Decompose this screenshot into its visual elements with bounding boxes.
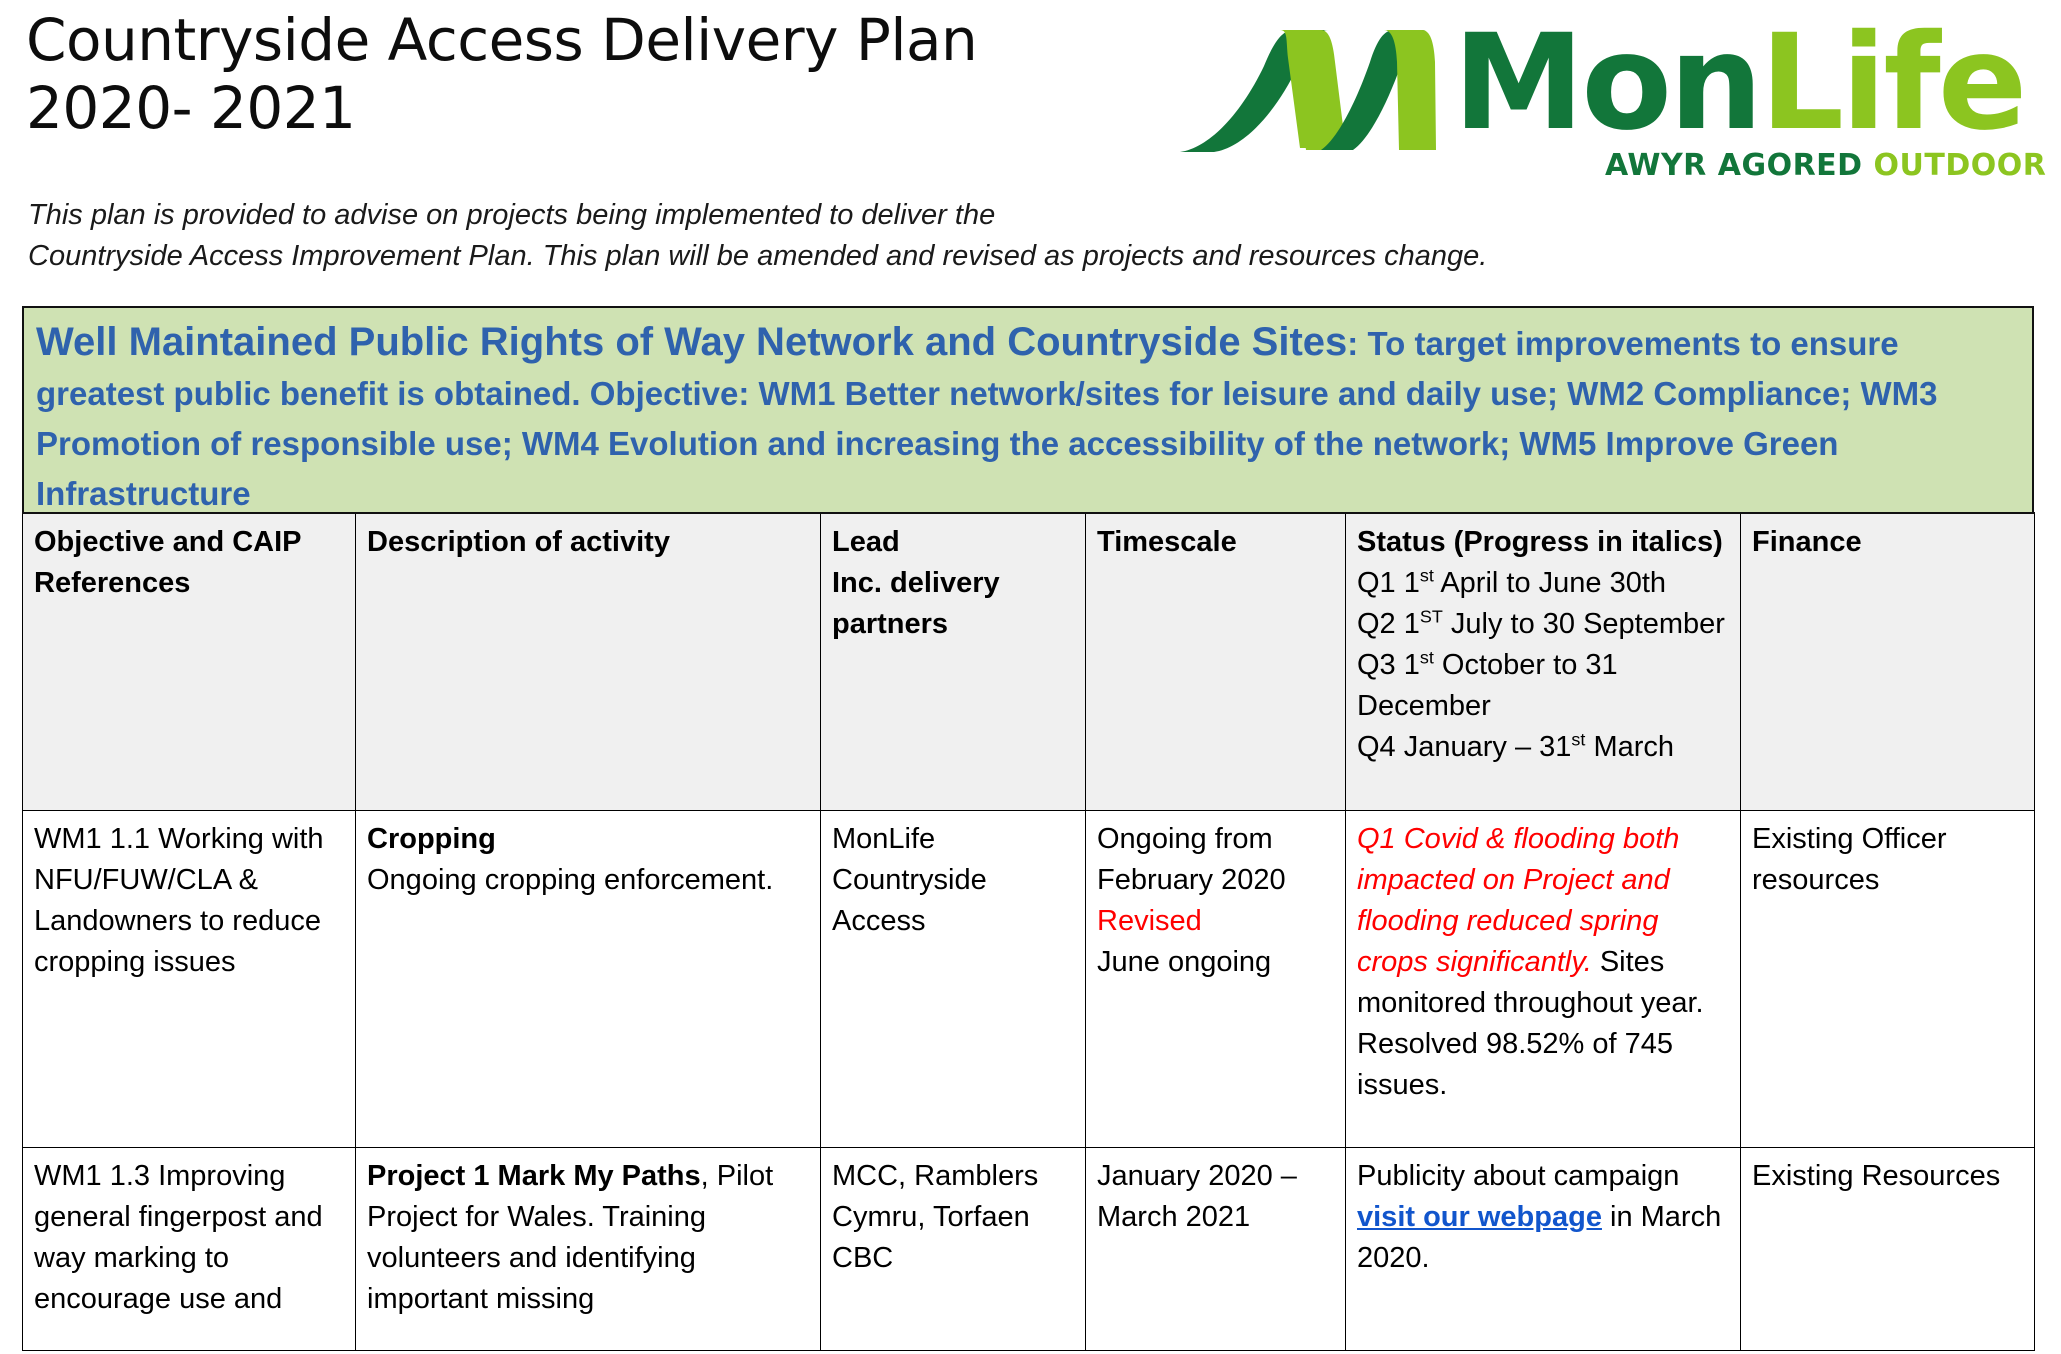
table-header-row: Objective and CAIP References Descriptio…: [23, 513, 2035, 811]
status-q3-prefix: Q3 1: [1357, 649, 1420, 681]
status-prefix-text: Publicity about campaign: [1357, 1160, 1679, 1192]
document-header: Countryside Access Delivery Plan 2020- 2…: [0, 0, 2061, 300]
logo-tagline-english: OUTDOOR: [1874, 148, 2047, 183]
status-quarter-q4: Q4 January – 31st March: [1357, 727, 1730, 768]
column-header-finance-label: Finance: [1752, 522, 2024, 563]
status-q1-ordinal: st: [1420, 565, 1434, 585]
cell-description: Cropping Ongoing cropping enforcement.: [356, 811, 821, 1148]
status-q4-prefix: Q4 January – 31: [1357, 731, 1571, 763]
objective-banner: Well Maintained Public Rights of Way Net…: [22, 306, 2034, 529]
column-header-status-label: Status (Progress in italics): [1357, 522, 1730, 563]
monlife-logo: MonLife AWYR AGORED OUTDOOR: [1153, 8, 2053, 208]
objective-banner-heading: Well Maintained Public Rights of Way Net…: [36, 320, 1347, 364]
column-header-finance: Finance: [1741, 513, 2035, 811]
cell-objective: WM1 1.1 Working with NFU/FUW/CLA & Lando…: [23, 811, 356, 1148]
cell-status: Q1 Covid & flooding both impacted on Pro…: [1346, 811, 1741, 1148]
status-q1-suffix: April to June 30th: [1434, 567, 1666, 599]
page-title-line-2: 2020- 2021: [26, 74, 1206, 142]
status-quarter-q3: Q3 1st October to 31 December: [1357, 645, 1730, 727]
timescale-revised-value: June ongoing: [1097, 946, 1271, 978]
timescale-revised-flag: Revised: [1097, 905, 1202, 937]
subtitle-line-2: Countryside Access Improvement Plan. Thi…: [28, 236, 1788, 277]
delivery-plan-table: Objective and CAIP References Descriptio…: [22, 512, 2035, 1351]
status-q2-prefix: Q2 1: [1357, 608, 1420, 640]
activity-title: Cropping: [367, 823, 496, 855]
column-header-objective-line-2: References: [34, 563, 345, 604]
table-row: WM1 1.3 Improving general fingerpost and…: [23, 1148, 2035, 1351]
cell-timescale: January 2020 – March 2021: [1086, 1148, 1346, 1351]
column-header-timescale: Timescale: [1086, 513, 1346, 811]
cell-lead: MonLife Countryside Access: [821, 811, 1086, 1148]
column-header-lead-line-3: partners: [832, 604, 1075, 645]
column-header-objective: Objective and CAIP References: [23, 513, 356, 811]
cell-finance: Existing Officer resources: [1741, 811, 2035, 1148]
cell-finance: Existing Resources: [1741, 1148, 2035, 1351]
column-header-description-label: Description of activity: [367, 522, 810, 563]
logo-word-life: Life: [1760, 6, 2024, 160]
logo-word-mon: Mon: [1453, 6, 1760, 160]
activity-title: Project 1 Mark My Paths: [367, 1160, 701, 1192]
page-title-line-1: Countryside Access Delivery Plan: [26, 6, 1206, 74]
cell-timescale: Ongoing from February 2020 Revised June …: [1086, 811, 1346, 1148]
cell-objective: WM1 1.3 Improving general fingerpost and…: [23, 1148, 356, 1351]
visit-our-webpage-link[interactable]: visit our webpage: [1357, 1201, 1602, 1233]
status-q2-ordinal: ST: [1420, 606, 1443, 626]
column-header-lead-line-2: Inc. delivery: [832, 563, 1075, 604]
cell-status: Publicity about campaign visit our webpa…: [1346, 1148, 1741, 1351]
column-header-status: Status (Progress in italics) Q1 1st Apri…: [1346, 513, 1741, 811]
status-q4-suffix: March: [1585, 731, 1674, 763]
column-header-lead: Lead Inc. delivery partners: [821, 513, 1086, 811]
logo-tagline: AWYR AGORED OUTDOOR: [1605, 148, 2046, 183]
monlife-m-ribbon-icon: [1178, 20, 1438, 165]
logo-tagline-welsh: AWYR AGORED: [1605, 148, 1863, 183]
title-block: Countryside Access Delivery Plan 2020- 2…: [26, 6, 1206, 142]
cell-lead: MCC, Ramblers Cymru, Torfaen CBC: [821, 1148, 1086, 1351]
activity-detail: Ongoing cropping enforcement.: [367, 864, 773, 896]
timescale-original: Ongoing from February 2020: [1097, 823, 1286, 896]
column-header-timescale-label: Timescale: [1097, 522, 1335, 563]
table-row: WM1 1.1 Working with NFU/FUW/CLA & Lando…: [23, 811, 2035, 1148]
cell-description: Project 1 Mark My Paths, Pilot Project f…: [356, 1148, 821, 1351]
logo-wordmark: MonLife: [1453, 8, 2024, 158]
status-q4-ordinal: st: [1571, 729, 1585, 749]
status-q1-prefix: Q1 1: [1357, 567, 1420, 599]
status-quarter-q1: Q1 1st April to June 30th: [1357, 563, 1730, 604]
status-q3-ordinal: st: [1420, 647, 1434, 667]
status-quarter-q2: Q2 1ST July to 30 September: [1357, 604, 1730, 645]
column-header-objective-line-1: Objective and CAIP: [34, 522, 345, 563]
column-header-lead-line-1: Lead: [832, 522, 1075, 563]
column-header-description: Description of activity: [356, 513, 821, 811]
status-q2-suffix: July to 30 September: [1443, 608, 1725, 640]
